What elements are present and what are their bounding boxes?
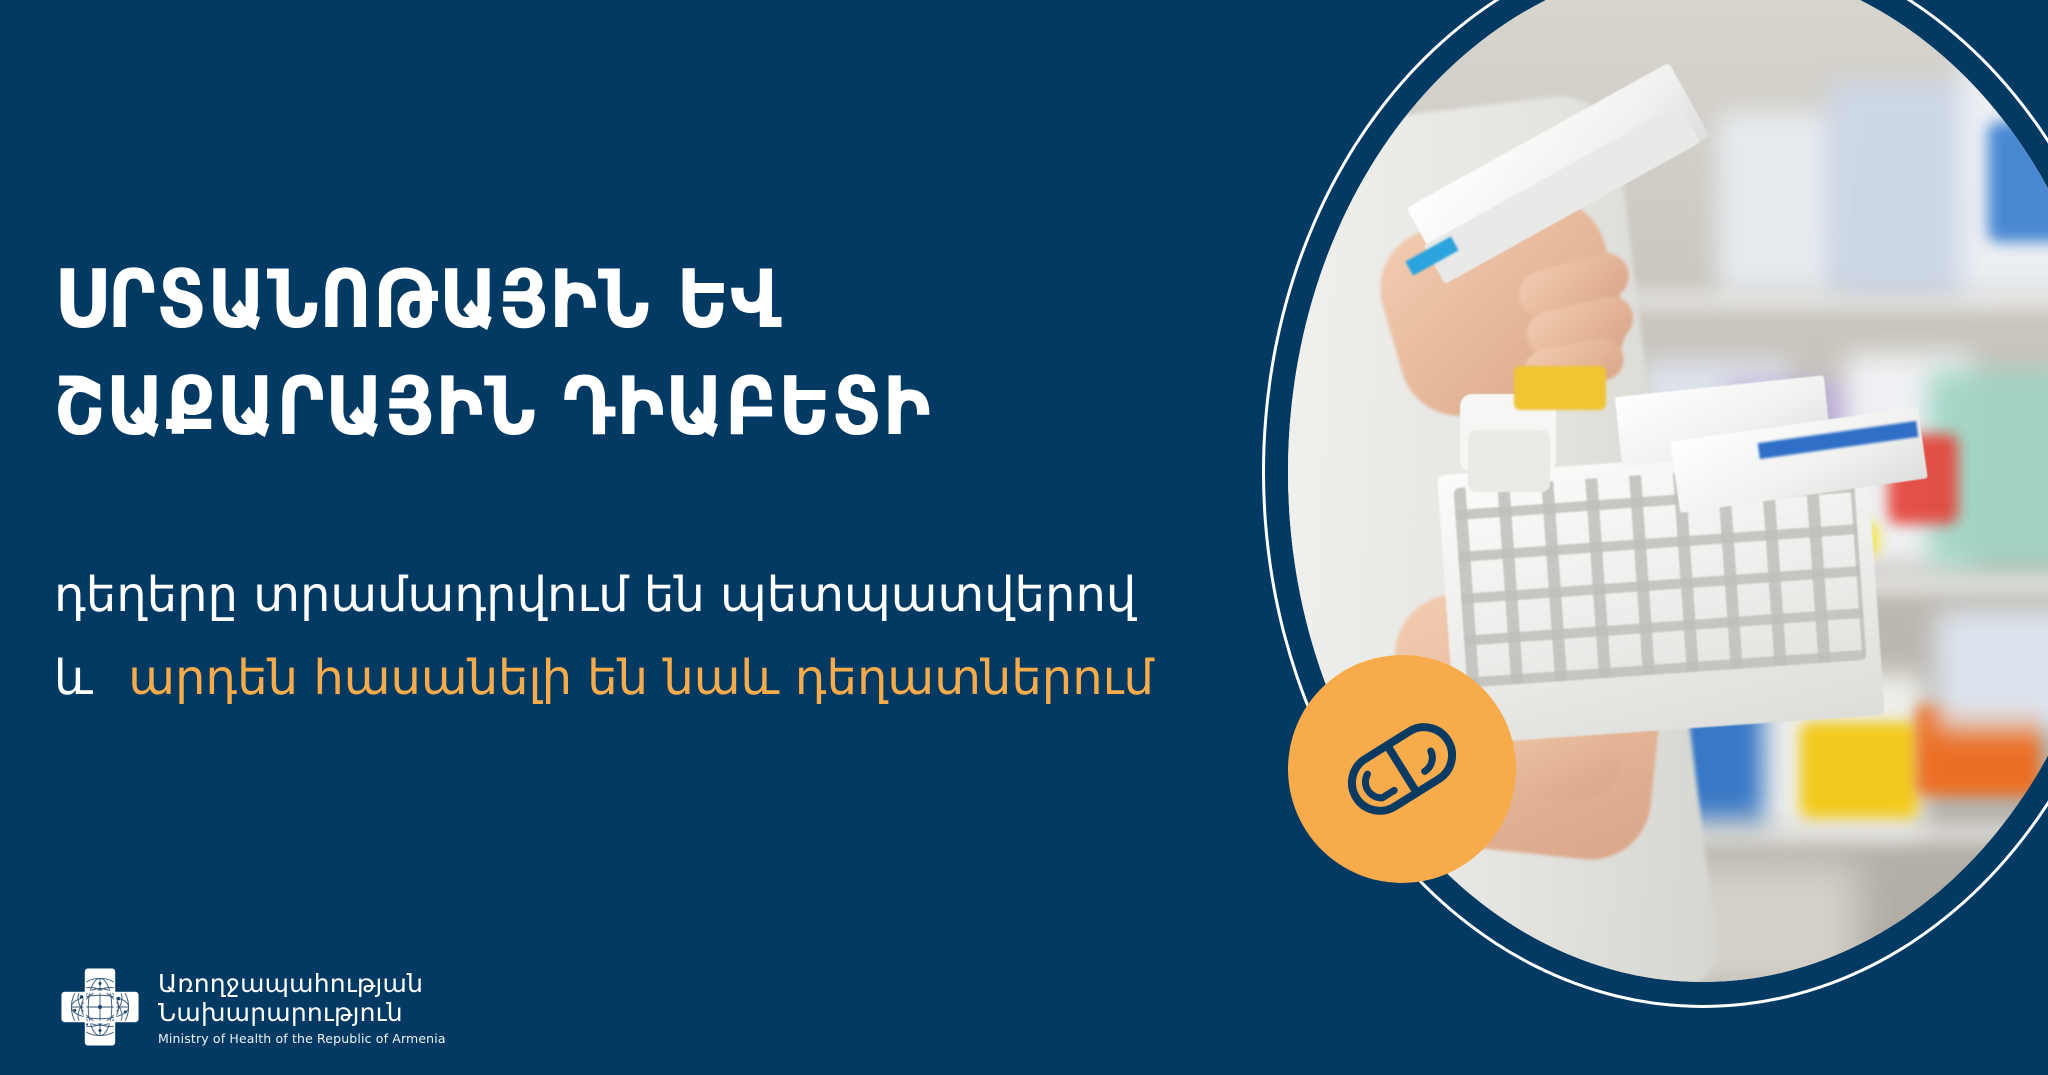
product-box-blur — [1718, 112, 1838, 292]
pill-badge — [1288, 655, 1516, 883]
product-box-blur — [1936, 610, 2048, 730]
armenia-health-cross-network-icon — [58, 965, 142, 1049]
subheadline: դեղերը տրամադրվում են պետպատվերով և արդե… — [54, 554, 1154, 719]
headline: ՍՐՏԱՆՈԹԱՅԻՆ ԵՎ ՇԱՔԱՐԱՅԻՆ ԴԻԱԲԵՏԻ — [54, 246, 932, 460]
product-box-blur — [1828, 82, 1978, 292]
ministry-logo: Առողջապահության Նախարարություն Ministry … — [58, 965, 446, 1049]
subheadline-line-2: և արդեն հասանելի են նաև դեղատներում — [54, 637, 1154, 720]
text-content: ՍՐՏԱՆՈԹԱՅԻՆ ԵՎ ՇԱՔԱՐԱՅԻՆ ԴԻԱԲԵՏԻ դեղերը … — [54, 0, 1284, 1075]
ministry-name-hy-line-1: Առողջապահության — [158, 969, 446, 998]
ministry-logo-text: Առողջապահության Նախարարություն Ministry … — [158, 969, 446, 1046]
headline-line-2: ՇԱՔԱՐԱՅԻՆ ԴԻԱԲԵՏԻ — [54, 353, 932, 460]
subheadline-line-2-prefix: և — [54, 650, 93, 706]
blister-strip — [1514, 366, 1606, 410]
headline-line-1: ՍՐՏԱՆՈԹԱՅԻՆ ԵՎ — [54, 246, 932, 353]
product-box-blur — [1988, 122, 2048, 242]
health-campaign-banner: ՍՐՏԱՆՈԹԱՅԻՆ ԵՎ ՇԱՔԱՐԱՅԻՆ ԴԻԱԲԵՏԻ դեղերը … — [0, 0, 2048, 1075]
subheadline-line-2-accent: արդեն հասանելի են նաև դեղատներում — [108, 650, 1154, 706]
subheadline-line-1: դեղերը տրամադրվում են պետպատվերով — [54, 554, 1154, 637]
ministry-name-hy-line-2: Նախարարություն — [158, 998, 446, 1027]
pill-capsule-icon — [1336, 703, 1468, 835]
ministry-name-en: Ministry of Health of the Republic of Ar… — [158, 1031, 446, 1046]
product-label-blur — [1800, 722, 1918, 818]
bottle-body — [1468, 430, 1550, 492]
